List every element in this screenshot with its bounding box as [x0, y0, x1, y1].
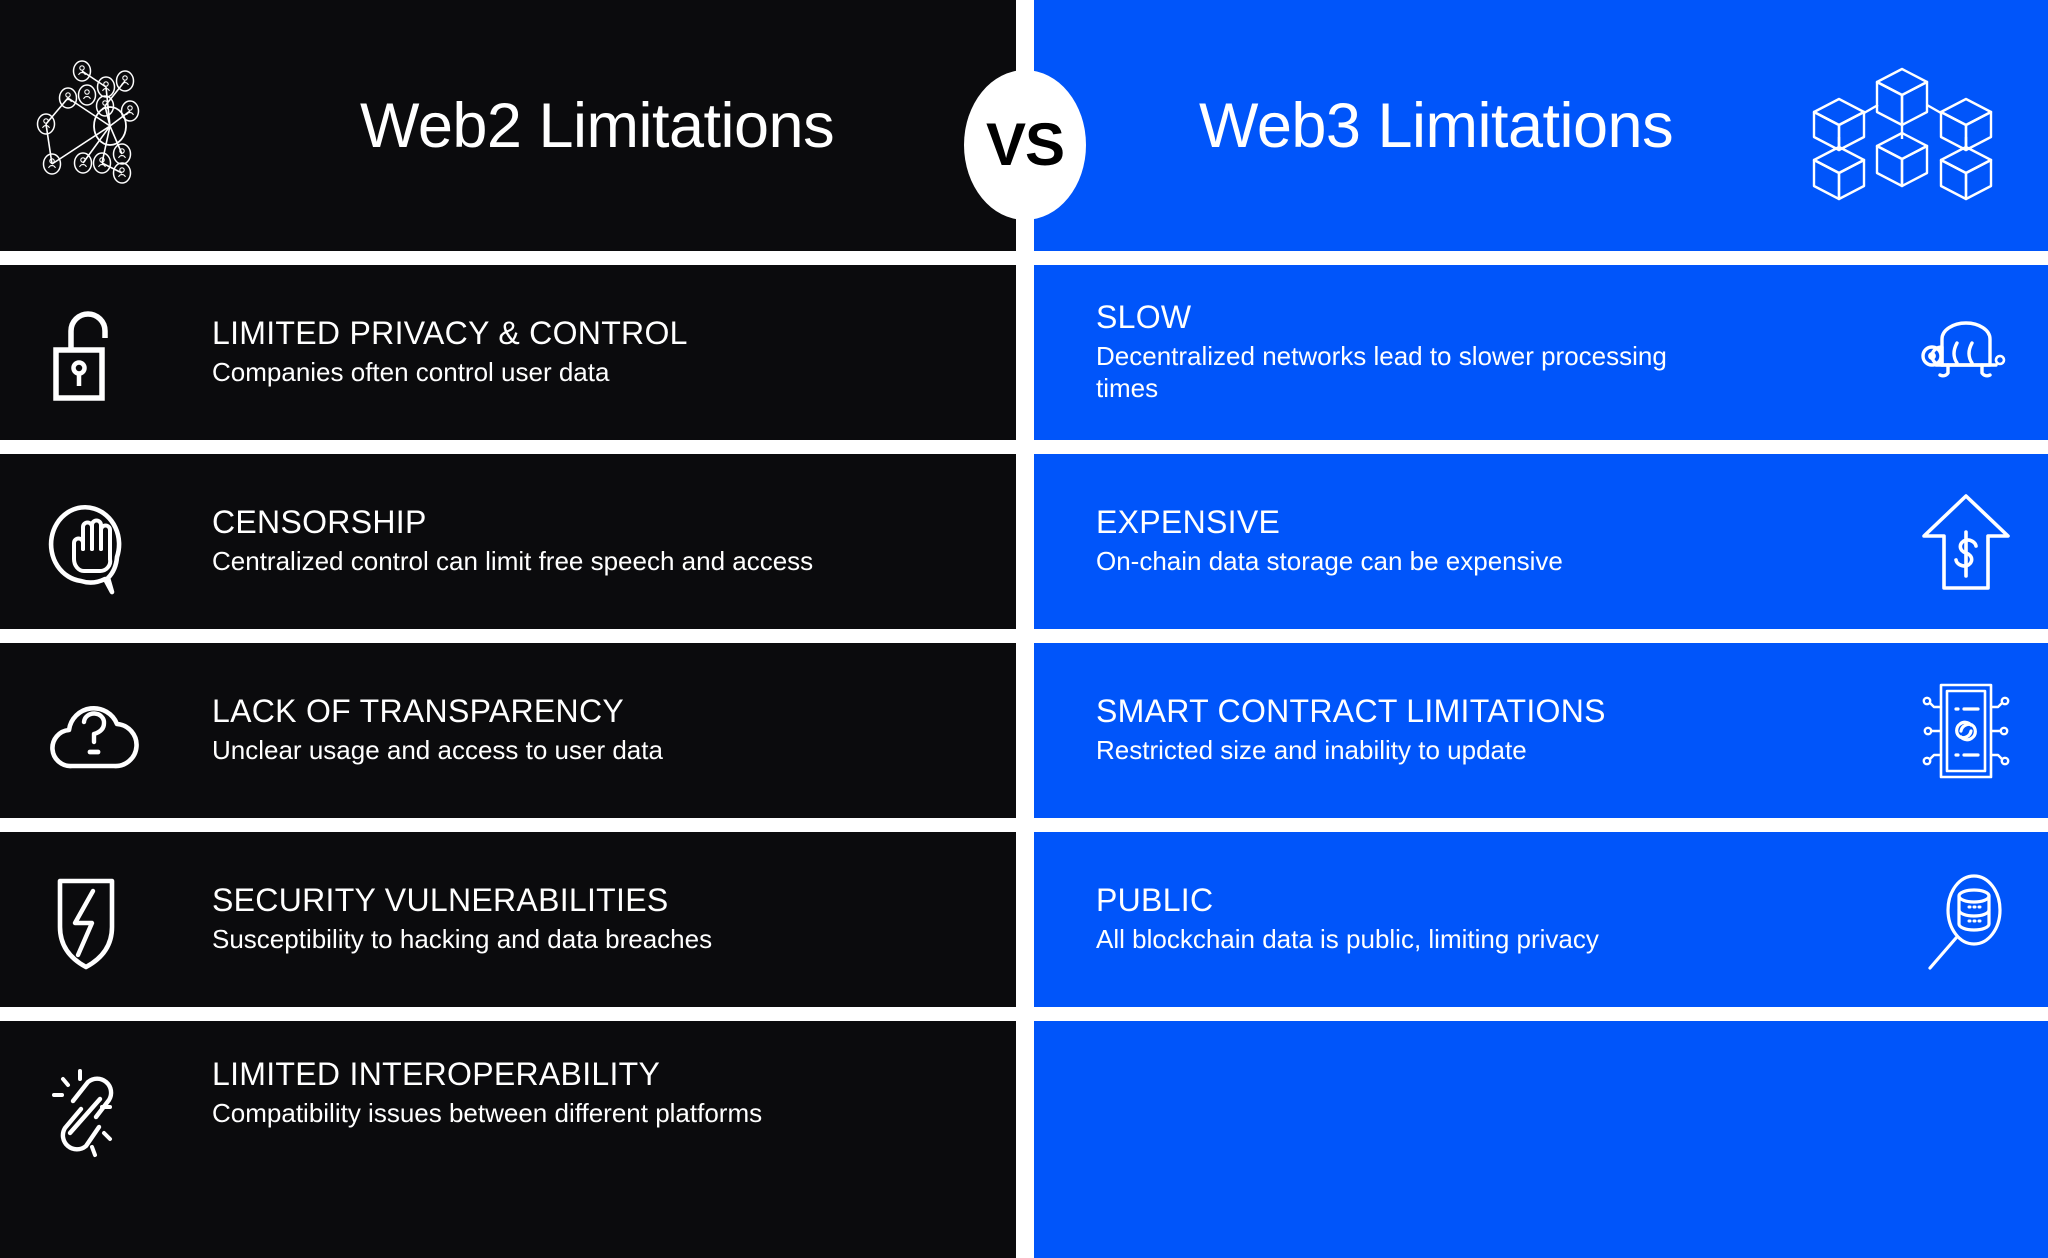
hand-speech-bubble-icon — [40, 487, 150, 597]
web2-vs-web3-infographic: Web2 Limitations Web3 Limitations — [0, 0, 2048, 1258]
header-left-title: Web2 Limitations — [360, 90, 834, 162]
right-row-3-text: SMART CONTRACT LIMITATIONS Restricted si… — [1096, 694, 1606, 767]
right-row-5 — [1034, 1021, 2048, 1258]
row-gap — [1016, 629, 1034, 643]
left-row-5-desc: Compatibility issues between different p… — [212, 1098, 762, 1130]
right-row-4-text: PUBLIC All blockchain data is public, li… — [1096, 883, 1599, 956]
shield-bolt-icon — [40, 865, 150, 975]
header-right-title: Web3 Limitations — [1199, 90, 1673, 162]
left-row-5-text: LIMITED INTEROPERABILITY Compatibility i… — [212, 1057, 762, 1130]
left-row-3-title: LACK OF TRANSPARENCY — [212, 694, 663, 730]
column-gap — [1016, 1021, 1034, 1258]
row-gap — [0, 440, 1016, 454]
left-row-2-desc: Centralized control can limit free speec… — [212, 546, 813, 578]
left-row-4: SECURITY VULNERABILITIES Susceptibility … — [0, 832, 1016, 1007]
blockchain-cubes-icon — [1798, 51, 1993, 201]
vs-badge: VS — [964, 70, 1086, 220]
turtle-icon — [1912, 299, 2020, 407]
right-row-4-desc: All blockchain data is public, limiting … — [1096, 924, 1599, 956]
row-gap — [0, 629, 1016, 643]
row-gap — [1034, 1007, 2048, 1021]
column-gap — [1016, 265, 1034, 440]
left-row-4-text: SECURITY VULNERABILITIES Susceptibility … — [212, 883, 712, 956]
right-row-3-desc: Restricted size and inability to update — [1096, 735, 1606, 767]
left-row-1-desc: Companies often control user data — [212, 357, 688, 389]
right-row-2-desc: On-chain data storage can be expensive — [1096, 546, 1563, 578]
vs-badge-label: VS — [986, 115, 1064, 175]
column-gap — [1016, 454, 1034, 629]
left-row-3-text: LACK OF TRANSPARENCY Unclear usage and a… — [212, 694, 663, 767]
smart-contract-chip-icon — [1912, 677, 2020, 785]
cloud-question-mark-icon — [40, 676, 150, 786]
row-gap — [0, 251, 1016, 265]
row-gap — [1016, 1007, 1034, 1021]
right-row-2-title: EXPENSIVE — [1096, 505, 1563, 541]
right-row-2-text: EXPENSIVE On-chain data storage can be e… — [1096, 505, 1563, 578]
right-row-1: SLOW Decentralized networks lead to slow… — [1034, 265, 2048, 440]
right-row-1-text: SLOW Decentralized networks lead to slow… — [1096, 300, 1736, 404]
header-left-panel: Web2 Limitations — [0, 0, 1016, 251]
row-gap — [1016, 818, 1034, 832]
row-gap — [1034, 251, 2048, 265]
right-row-1-title: SLOW — [1096, 300, 1736, 336]
header-right-panel: Web3 Limitations — [1034, 0, 2048, 251]
left-row-4-desc: Susceptibility to hacking and data breac… — [212, 924, 712, 956]
right-row-3-title: SMART CONTRACT LIMITATIONS — [1096, 694, 1606, 730]
column-gap — [1016, 643, 1034, 818]
left-row-3-desc: Unclear usage and access to user data — [212, 735, 663, 767]
column-gap — [1016, 832, 1034, 1007]
right-row-3: SMART CONTRACT LIMITATIONS Restricted si… — [1034, 643, 2048, 818]
broken-chain-link-icon — [40, 1057, 150, 1167]
left-row-2-title: CENSORSHIP — [212, 505, 813, 541]
row-gap — [1016, 251, 1034, 265]
magnifier-database-icon — [1912, 866, 2020, 974]
row-gap — [1034, 818, 2048, 832]
left-row-2-text: CENSORSHIP Centralized control can limit… — [212, 505, 813, 578]
left-row-1-text: LIMITED PRIVACY & CONTROL Companies ofte… — [212, 316, 688, 389]
left-row-5-title: LIMITED INTEROPERABILITY — [212, 1057, 762, 1093]
left-row-1-title: LIMITED PRIVACY & CONTROL — [212, 316, 688, 352]
right-row-4-title: PUBLIC — [1096, 883, 1599, 919]
right-row-4: PUBLIC All blockchain data is public, li… — [1034, 832, 2048, 1007]
row-gap — [0, 1007, 1016, 1021]
row-gap — [1034, 440, 2048, 454]
right-row-1-desc: Decentralized networks lead to slower pr… — [1096, 341, 1736, 404]
row-gap — [1016, 440, 1034, 454]
open-padlock-icon — [40, 298, 150, 408]
left-row-5: LIMITED INTEROPERABILITY Compatibility i… — [0, 1021, 1016, 1258]
left-row-4-title: SECURITY VULNERABILITIES — [212, 883, 712, 919]
row-gap — [0, 818, 1016, 832]
right-row-2: EXPENSIVE On-chain data storage can be e… — [1034, 454, 2048, 629]
left-row-1: LIMITED PRIVACY & CONTROL Companies ofte… — [0, 265, 1016, 440]
row-gap — [1034, 629, 2048, 643]
network-users-icon — [30, 51, 200, 201]
left-row-2: CENSORSHIP Centralized control can limit… — [0, 454, 1016, 629]
left-row-3: LACK OF TRANSPARENCY Unclear usage and a… — [0, 643, 1016, 818]
dollar-up-arrow-icon — [1912, 488, 2020, 596]
